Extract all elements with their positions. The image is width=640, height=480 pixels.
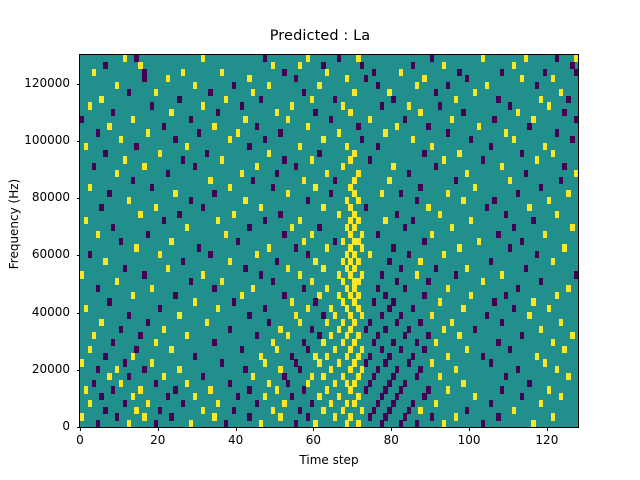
- heatmap-cell: [555, 211, 559, 218]
- heatmap-cell: [154, 89, 158, 96]
- heatmap-cell: [407, 170, 411, 177]
- heatmap-cell: [119, 136, 123, 143]
- heatmap-cell: [403, 332, 407, 339]
- heatmap-cell: [442, 156, 446, 163]
- heatmap-cell: [294, 244, 298, 251]
- heatmap-cell: [138, 211, 142, 218]
- heatmap-cell: [450, 116, 454, 123]
- heatmap-cell: [251, 285, 255, 292]
- heatmap-cell: [146, 129, 150, 136]
- heatmap-cell: [193, 393, 197, 400]
- heatmap-cell: [96, 129, 100, 136]
- heatmap-cell: [158, 407, 162, 414]
- heatmap-cell: [380, 312, 384, 319]
- heatmap-cell: [142, 75, 146, 82]
- heatmap-cell: [317, 393, 321, 400]
- heatmap-cell: [407, 359, 411, 366]
- heatmap-cell: [275, 109, 279, 116]
- heatmap-cell: [173, 292, 177, 299]
- heatmap-cell: [325, 285, 329, 292]
- heatmap-cell: [103, 62, 107, 69]
- heatmap-cell: [84, 217, 88, 224]
- heatmap-cell: [395, 278, 399, 285]
- heatmap-cell: [267, 150, 271, 157]
- heatmap-cell: [142, 413, 146, 420]
- heatmap-cell: [337, 393, 341, 400]
- heatmap-cell: [80, 359, 84, 366]
- heatmap-cell: [99, 204, 103, 211]
- heatmap-cell: [454, 177, 458, 184]
- heatmap-cell: [142, 163, 146, 170]
- heatmap-cell: [255, 123, 259, 130]
- heatmap-cell: [411, 217, 415, 224]
- y-tick-label: 40000: [0, 305, 70, 319]
- heatmap-cell: [88, 251, 92, 258]
- heatmap-cell: [278, 326, 282, 333]
- heatmap-cell: [531, 116, 535, 123]
- heatmap-cell: [185, 332, 189, 339]
- heatmap-cell: [310, 278, 314, 285]
- heatmap-cell: [212, 413, 216, 420]
- heatmap-cell: [547, 386, 551, 393]
- heatmap-cell: [395, 319, 399, 326]
- heatmap-cell: [376, 400, 380, 407]
- heatmap-cell: [189, 197, 193, 204]
- heatmap-cell: [372, 407, 376, 414]
- heatmap-cell: [251, 89, 255, 96]
- heatmap-cell: [345, 75, 349, 82]
- heatmap-cell: [298, 271, 302, 278]
- heatmap-cell: [333, 380, 337, 387]
- heatmap-cell: [325, 69, 329, 76]
- heatmap-cell: [123, 400, 127, 407]
- heatmap-cell: [313, 298, 317, 305]
- heatmap-cell: [236, 129, 240, 136]
- heatmap-cell: [259, 420, 263, 427]
- heatmap-cell: [177, 366, 181, 373]
- heatmap-cell: [173, 386, 177, 393]
- heatmap-cell: [527, 312, 531, 319]
- heatmap-cell: [177, 211, 181, 218]
- heatmap-cell: [134, 244, 138, 251]
- heatmap-cell: [310, 231, 314, 238]
- heatmap-cell: [391, 163, 395, 170]
- heatmap-cell: [341, 238, 345, 245]
- heatmap-cell: [317, 224, 321, 231]
- heatmap-cell: [364, 386, 368, 393]
- heatmap-cell: [84, 386, 88, 393]
- heatmap-cell: [422, 150, 426, 157]
- heatmap-cell: [263, 55, 267, 62]
- heatmap-cell: [535, 156, 539, 163]
- heatmap-cell: [356, 332, 360, 339]
- heatmap-cell: [142, 271, 146, 278]
- heatmap-cell: [169, 413, 173, 420]
- heatmap-cell: [383, 217, 387, 224]
- heatmap-cell: [539, 326, 543, 333]
- heatmap-cell: [562, 163, 566, 170]
- heatmap-cell: [559, 393, 563, 400]
- heatmap-cell: [325, 386, 329, 393]
- heatmap-cell: [169, 109, 173, 116]
- heatmap-cell: [399, 69, 403, 76]
- heatmap-cell: [166, 170, 170, 177]
- heatmap-cell: [570, 136, 574, 143]
- heatmap-cell: [107, 373, 111, 380]
- heatmap-cell: [356, 170, 360, 177]
- heatmap-cell: [107, 190, 111, 197]
- heatmap-cell: [313, 420, 317, 427]
- heatmap-cell: [562, 109, 566, 116]
- heatmap-cell: [103, 407, 107, 414]
- heatmap-cell: [360, 62, 364, 69]
- heatmap-cell: [302, 238, 306, 245]
- heatmap-cell: [150, 184, 154, 191]
- heatmap-cell: [403, 413, 407, 420]
- heatmap-cell: [442, 251, 446, 258]
- x-tick-label: 60: [283, 433, 343, 447]
- heatmap-cell: [123, 156, 127, 163]
- heatmap-cell: [162, 217, 166, 224]
- heatmap-cell: [551, 413, 555, 420]
- heatmap-cell: [123, 55, 127, 62]
- heatmap-cell: [263, 217, 267, 224]
- heatmap-cell: [177, 96, 181, 103]
- heatmap-cell: [430, 312, 434, 319]
- heatmap-cell: [321, 136, 325, 143]
- heatmap-cell: [146, 319, 150, 326]
- heatmap-cell: [119, 380, 123, 387]
- heatmap-cell: [352, 265, 356, 272]
- heatmap-cell: [383, 359, 387, 366]
- heatmap-cell: [438, 373, 442, 380]
- heatmap-cell: [352, 150, 356, 157]
- heatmap-cell: [337, 359, 341, 366]
- heatmap-cell: [341, 407, 345, 414]
- heatmap-cell: [574, 69, 578, 76]
- heatmap-cell: [489, 400, 493, 407]
- heatmap-cell: [131, 177, 135, 184]
- heatmap-cell: [119, 238, 123, 245]
- heatmap-cell: [298, 407, 302, 414]
- heatmap-cell: [243, 366, 247, 373]
- heatmap-cell: [173, 136, 177, 143]
- heatmap-cell: [286, 332, 290, 339]
- heatmap-cell: [99, 319, 103, 326]
- heatmap-cell: [294, 163, 298, 170]
- heatmap-cell: [426, 386, 430, 393]
- heatmap-cell: [107, 123, 111, 130]
- heatmap-cell: [422, 393, 426, 400]
- heatmap-cell: [154, 420, 158, 427]
- heatmap-cell: [399, 386, 403, 393]
- heatmap-cell: [473, 184, 477, 191]
- heatmap-cell: [352, 89, 356, 96]
- heatmap-cell: [267, 319, 271, 326]
- heatmap-cell: [333, 238, 337, 245]
- heatmap-cell: [92, 69, 96, 76]
- heatmap-cell: [259, 271, 263, 278]
- heatmap-cell: [383, 413, 387, 420]
- heatmap-cell: [134, 346, 138, 353]
- heatmap-cell: [481, 278, 485, 285]
- heatmap-cell: [520, 393, 524, 400]
- heatmap-cell: [162, 123, 166, 130]
- heatmap-cell: [115, 413, 119, 420]
- heatmap-cell: [356, 353, 360, 360]
- heatmap-cell: [310, 373, 314, 380]
- heatmap-cell: [527, 204, 531, 211]
- heatmap-cell: [512, 224, 516, 231]
- heatmap-cell: [185, 380, 189, 387]
- heatmap-cell: [131, 353, 135, 360]
- heatmap-cell: [115, 366, 119, 373]
- heatmap-cell: [407, 251, 411, 258]
- heatmap-cell: [500, 386, 504, 393]
- heatmap-cell: [383, 326, 387, 333]
- heatmap-cell: [96, 420, 100, 427]
- heatmap-cell: [348, 386, 352, 393]
- heatmap-cells: [80, 55, 578, 427]
- heatmap-cell: [500, 271, 504, 278]
- heatmap-cell: [337, 129, 341, 136]
- heatmap-cell: [376, 285, 380, 292]
- heatmap-cell: [111, 386, 115, 393]
- heatmap-cell: [216, 109, 220, 116]
- heatmap-cell: [356, 278, 360, 285]
- heatmap-cell: [372, 298, 376, 305]
- heatmap-cell: [465, 407, 469, 414]
- heatmap-cell: [543, 69, 547, 76]
- heatmap-cell: [290, 102, 294, 109]
- heatmap-cell: [387, 305, 391, 312]
- heatmap-cell: [430, 231, 434, 238]
- heatmap-cell: [243, 265, 247, 272]
- heatmap-cell: [512, 62, 516, 69]
- heatmap-cell: [329, 400, 333, 407]
- heatmap-cell: [278, 211, 282, 218]
- heatmap-cell: [333, 413, 337, 420]
- heatmap-cell: [489, 359, 493, 366]
- heatmap-cell: [380, 102, 384, 109]
- heatmap-cell: [446, 82, 450, 89]
- heatmap-cell: [341, 319, 345, 326]
- heatmap-cell: [387, 177, 391, 184]
- heatmap-cell: [527, 380, 531, 387]
- heatmap-cell: [197, 244, 201, 251]
- heatmap-cell: [150, 102, 154, 109]
- heatmap-cell: [146, 400, 150, 407]
- heatmap-cell: [461, 109, 465, 116]
- y-tick-label: 20000: [0, 362, 70, 376]
- heatmap-cell: [294, 75, 298, 82]
- heatmap-cell: [559, 319, 563, 326]
- heatmap-cell: [154, 204, 158, 211]
- heatmap-cell: [465, 265, 469, 272]
- heatmap-cell: [243, 197, 247, 204]
- heatmap-cell: [216, 305, 220, 312]
- heatmap-cell: [290, 224, 294, 231]
- heatmap-cell: [457, 150, 461, 157]
- heatmap-cell: [380, 271, 384, 278]
- heatmap-cell: [391, 244, 395, 251]
- heatmap-cell: [310, 156, 314, 163]
- heatmap-cell: [263, 136, 267, 143]
- heatmap-cell: [485, 312, 489, 319]
- heatmap-cell: [317, 359, 321, 366]
- heatmap-cell: [446, 285, 450, 292]
- heatmap-cell: [84, 143, 88, 150]
- heatmap-cell: [259, 96, 263, 103]
- heatmap-cell: [376, 143, 380, 150]
- y-tick-label: 0: [0, 419, 70, 433]
- heatmap-cell: [531, 217, 535, 224]
- x-tick-mark: [469, 428, 470, 432]
- heatmap-cell: [508, 177, 512, 184]
- heatmap-cell: [535, 251, 539, 258]
- y-axis-label: Frequency (Hz): [7, 114, 21, 334]
- heatmap-cell: [527, 123, 531, 130]
- heatmap-cell: [240, 170, 244, 177]
- heatmap-cell: [531, 420, 535, 427]
- heatmap-cell: [212, 190, 216, 197]
- heatmap-cell: [310, 326, 314, 333]
- heatmap-cell: [321, 204, 325, 211]
- heatmap-cell: [551, 339, 555, 346]
- heatmap-cell: [465, 75, 469, 82]
- heatmap-cell: [481, 353, 485, 360]
- heatmap-cell: [551, 75, 555, 82]
- heatmap-cell: [302, 89, 306, 96]
- heatmap-cell: [543, 359, 547, 366]
- heatmap-cell: [228, 258, 232, 265]
- heatmap-cell: [313, 258, 317, 265]
- heatmap-cell: [201, 204, 205, 211]
- heatmap-cell: [559, 89, 563, 96]
- heatmap-cell: [356, 217, 360, 224]
- heatmap-cell: [181, 400, 185, 407]
- heatmap-cell: [356, 373, 360, 380]
- heatmap-cell: [189, 420, 193, 427]
- heatmap-cell: [236, 393, 240, 400]
- heatmap-cell: [162, 326, 166, 333]
- heatmap-cell: [173, 190, 177, 197]
- heatmap-cell: [442, 62, 446, 69]
- heatmap-cell: [496, 231, 500, 238]
- heatmap-cell: [107, 298, 111, 305]
- heatmap-cell: [282, 156, 286, 163]
- heatmap-cell: [473, 89, 477, 96]
- heatmap-cell: [454, 413, 458, 420]
- heatmap-cell: [391, 373, 395, 380]
- heatmap-cell: [407, 102, 411, 109]
- heatmap-cell: [562, 244, 566, 251]
- heatmap-cell: [399, 346, 403, 353]
- heatmap-cell: [376, 82, 380, 89]
- heatmap-cell: [356, 420, 360, 427]
- heatmap-cell: [566, 285, 570, 292]
- heatmap-cell: [372, 339, 376, 346]
- heatmap-cell: [387, 407, 391, 414]
- heatmap-cell: [232, 298, 236, 305]
- heatmap-cell: [574, 116, 578, 123]
- heatmap-cell: [255, 332, 259, 339]
- heatmap-cell: [302, 285, 306, 292]
- heatmap-cell: [131, 116, 135, 123]
- heatmap-cell: [341, 102, 345, 109]
- heatmap-cell: [325, 244, 329, 251]
- heatmap-cell: [80, 116, 84, 123]
- heatmap-cell: [368, 380, 372, 387]
- heatmap-cell: [166, 393, 170, 400]
- heatmap-cell: [313, 109, 317, 116]
- heatmap-cell: [181, 258, 185, 265]
- heatmap-cell: [306, 123, 310, 130]
- heatmap-cell: [380, 393, 384, 400]
- heatmap-cell: [267, 82, 271, 89]
- heatmap-cell: [469, 292, 473, 299]
- heatmap-cell: [566, 96, 570, 103]
- heatmap-cell: [380, 420, 384, 427]
- heatmap-cell: [442, 420, 446, 427]
- heatmap-cell: [306, 346, 310, 353]
- heatmap-cell: [275, 386, 279, 393]
- heatmap-cell: [345, 332, 349, 339]
- heatmap-cell: [539, 278, 543, 285]
- heatmap-cell: [115, 170, 119, 177]
- heatmap-cell: [232, 82, 236, 89]
- heatmap-cell: [380, 346, 384, 353]
- heatmap-cell: [504, 129, 508, 136]
- heatmap-cell: [555, 129, 559, 136]
- heatmap-cell: [438, 298, 442, 305]
- heatmap-cell: [80, 413, 84, 420]
- heatmap-cell: [496, 339, 500, 346]
- heatmap-cell: [516, 109, 520, 116]
- heatmap-cell: [247, 413, 251, 420]
- heatmap-cell: [500, 69, 504, 76]
- x-tick-mark: [547, 428, 548, 432]
- heatmap-cell: [298, 62, 302, 69]
- heatmap-cell: [212, 339, 216, 346]
- heatmap-cell: [360, 366, 364, 373]
- heatmap-cell: [461, 305, 465, 312]
- heatmap-cell: [383, 129, 387, 136]
- heatmap-cell: [399, 265, 403, 272]
- heatmap-cell: [333, 346, 337, 353]
- heatmap-cell: [391, 400, 395, 407]
- heatmap-cell: [418, 184, 422, 191]
- heatmap-cell: [360, 271, 364, 278]
- heatmap-cell: [306, 197, 310, 204]
- heatmap-cell: [220, 278, 224, 285]
- heatmap-cell: [146, 231, 150, 238]
- heatmap-cell: [422, 346, 426, 353]
- heatmap-cell: [434, 163, 438, 170]
- heatmap-cell: [123, 359, 127, 366]
- heatmap-cell: [446, 386, 450, 393]
- heatmap-cell: [177, 312, 181, 319]
- heatmap-cell: [92, 380, 96, 387]
- heatmap-cell: [348, 366, 352, 373]
- heatmap-cell: [418, 109, 422, 116]
- heatmap-cell: [185, 224, 189, 231]
- heatmap-cell: [570, 224, 574, 231]
- heatmap-cell: [275, 346, 279, 353]
- heatmap-cell: [454, 96, 458, 103]
- heatmap-cell: [275, 170, 279, 177]
- heatmap-cell: [555, 292, 559, 299]
